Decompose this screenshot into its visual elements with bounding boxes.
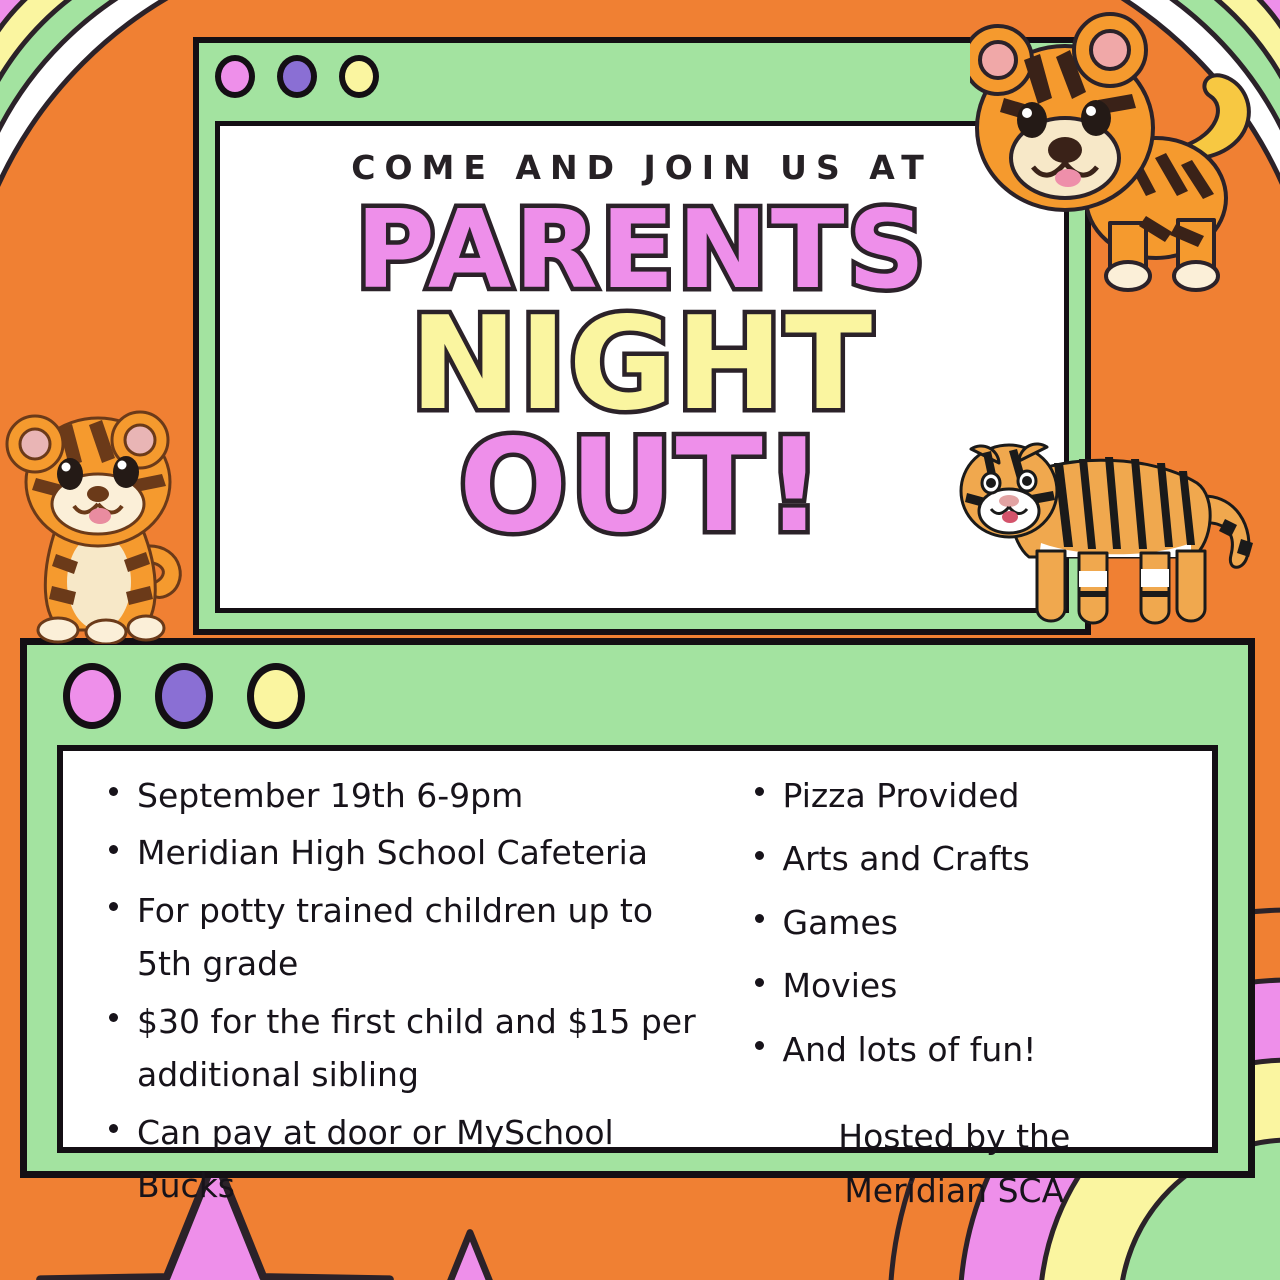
list-item: Meridian High School Cafeteria [95, 826, 717, 879]
list-item: Games [741, 896, 1202, 949]
list-item: Pizza Provided [741, 769, 1202, 822]
hosted-by-line-1: Hosted by the [741, 1110, 1168, 1163]
details-window: September 19th 6-9pm Meridian High Schoo… [20, 638, 1255, 1178]
list-item: September 19th 6-9pm [95, 769, 717, 822]
list-item: Movies [741, 959, 1202, 1012]
title-window-titlebar [199, 43, 1085, 115]
yellow-dot-icon[interactable] [339, 55, 379, 98]
hosted-by-line-2: Meridian SCA [741, 1164, 1168, 1217]
title-window-screen: COME AND JOIN US AT PARENTS NIGHT OUT! [215, 121, 1069, 613]
list-item: For potty trained children up to 5th gra… [95, 884, 717, 991]
list-item: $30 for the first child and $15 per addi… [95, 995, 717, 1102]
tiger-adult-walking-icon [955, 405, 1265, 640]
tiger-cub-sitting-icon [0, 396, 200, 644]
tiger-cub-standing-icon [970, 8, 1270, 308]
pink-dot-icon[interactable] [63, 663, 121, 729]
eyebrow-text: COME AND JOIN US AT [351, 148, 932, 187]
list-item: Can pay at door or MySchool Bucks [95, 1106, 717, 1213]
purple-dot-icon[interactable] [277, 55, 317, 98]
details-column-left: September 19th 6-9pm Meridian High Schoo… [73, 769, 717, 1137]
pink-dot-icon[interactable] [215, 55, 255, 98]
details-window-screen: September 19th 6-9pm Meridian High Schoo… [57, 745, 1218, 1153]
details-column-right: Pizza Provided Arts and Crafts Games Mov… [717, 769, 1202, 1137]
list-item: And lots of fun! [741, 1023, 1202, 1076]
title-line-3: OUT! [459, 428, 825, 546]
purple-dot-icon[interactable] [155, 663, 213, 729]
details-window-titlebar [27, 645, 1248, 745]
poster-canvas: COME AND JOIN US AT PARENTS NIGHT OUT! [0, 0, 1280, 1280]
title-line-2: NIGHT [410, 306, 874, 424]
list-item: Arts and Crafts [741, 832, 1202, 885]
hosted-by-block: Hosted by the Meridian SCA [741, 1110, 1202, 1217]
yellow-dot-icon[interactable] [247, 663, 305, 729]
event-details-list: September 19th 6-9pm Meridian High Schoo… [95, 769, 717, 1213]
title-line-1: PARENTS [356, 201, 929, 300]
activities-list: Pizza Provided Arts and Crafts Games Mov… [741, 769, 1202, 1076]
